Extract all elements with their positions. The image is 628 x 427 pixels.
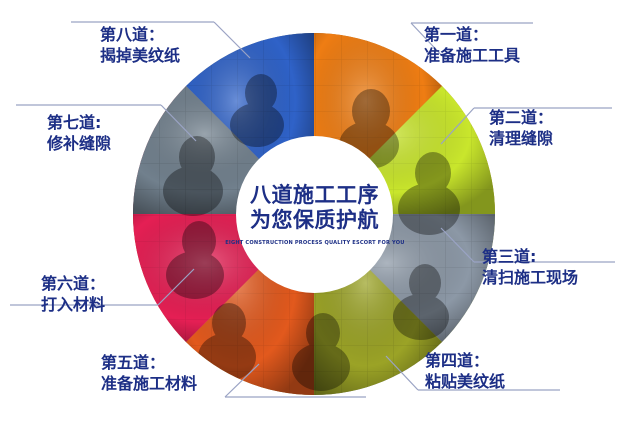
step-5-line1: 第五道： — [101, 353, 165, 372]
step-8-line2: 揭掉美纹纸 — [100, 45, 180, 66]
step-4-line2: 粘贴美纹纸 — [425, 371, 505, 392]
hub-title-line1: 八道施工工序 — [250, 183, 379, 208]
center-hub: 八道施工工序 为您保质护航 EIGHT CONSTRUCTION PROCESS… — [236, 136, 393, 293]
step-7-line2: 修补缝隙 — [47, 133, 111, 154]
step-label-7[interactable]: 第七道: 修补缝隙 — [47, 112, 111, 154]
step-3-line1: 第三道: — [482, 247, 536, 266]
step-1-line2: 准备施工工具 — [424, 45, 520, 66]
step-label-6[interactable]: 第六道： 打入材料 — [41, 273, 105, 315]
step-3-line2: 清扫施工现场 — [482, 267, 578, 288]
step-label-2[interactable]: 第二道： 清理缝隙 — [489, 107, 553, 149]
step-6-line1: 第六道： — [41, 274, 105, 293]
step-6-line2: 打入材料 — [41, 294, 105, 315]
step-2-line1: 第二道： — [489, 108, 553, 127]
step-7-line1: 第七道: — [47, 113, 101, 132]
hub-subtitle-en: EIGHT CONSTRUCTION PROCESS QUALITY ESCOR… — [225, 240, 404, 247]
step-label-3[interactable]: 第三道: 清扫施工现场 — [482, 246, 578, 288]
step-label-1[interactable]: 第一道： 准备施工工具 — [424, 24, 520, 66]
hub-title-line2: 为您保质护航 — [250, 208, 379, 233]
step-4-line1: 第四道： — [425, 351, 489, 370]
infographic-canvas: 八道施工工序 为您保质护航 EIGHT CONSTRUCTION PROCESS… — [0, 0, 628, 427]
step-5-line2: 准备施工材料 — [101, 373, 197, 394]
step-label-4[interactable]: 第四道： 粘贴美纹纸 — [425, 350, 505, 392]
step-label-8[interactable]: 第八道： 揭掉美纹纸 — [100, 24, 180, 66]
step-2-line2: 清理缝隙 — [489, 128, 553, 149]
step-1-line1: 第一道： — [424, 25, 488, 44]
step-label-5[interactable]: 第五道： 准备施工材料 — [101, 352, 197, 394]
step-8-line1: 第八道： — [100, 25, 164, 44]
